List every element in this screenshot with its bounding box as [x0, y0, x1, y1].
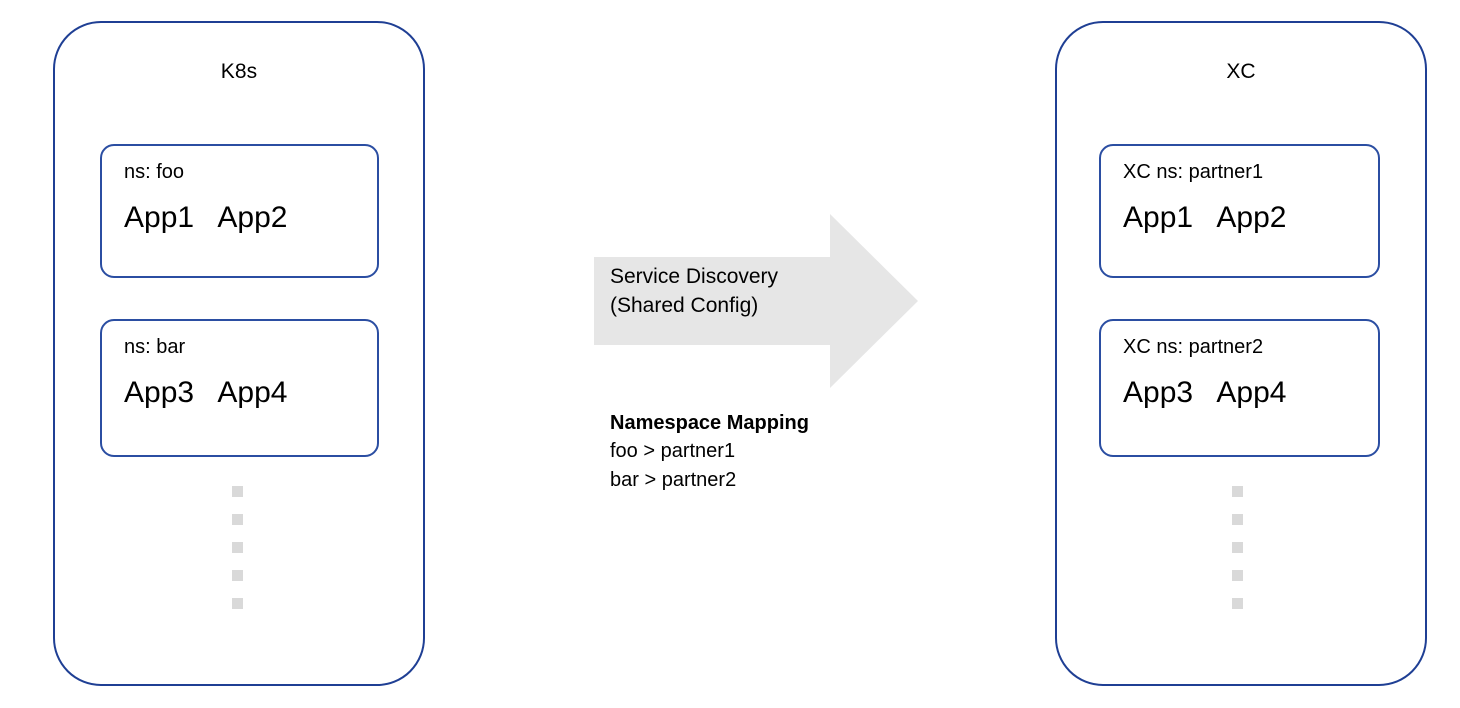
ellipsis-dot: [1232, 542, 1243, 553]
ellipsis-dot: [232, 514, 243, 525]
ellipsis-dot: [232, 486, 243, 497]
namespace-mapping-row-bar: bar > partner2: [610, 466, 910, 495]
namespace-box-partner1: XC ns: partner1 App1 App2: [1099, 144, 1380, 278]
ellipsis-dot: [1232, 570, 1243, 581]
ellipsis-dot: [1232, 514, 1243, 525]
service-discovery-arrow: Service Discovery (Shared Config): [594, 214, 920, 389]
namespace-mapping-title: Namespace Mapping: [610, 409, 910, 437]
namespace-box-partner2: XC ns: partner2 App3 App4: [1099, 319, 1380, 457]
ellipsis-dot: [232, 542, 243, 553]
ellipsis-dot: [232, 570, 243, 581]
service-discovery-arrow-label: Service Discovery (Shared Config): [610, 262, 778, 320]
cluster-xc-title: XC: [1057, 59, 1425, 84]
namespace-box-bar-label: ns: bar: [124, 335, 185, 359]
ellipsis-dot: [232, 598, 243, 609]
namespace-box-foo-apps: App1 App2: [124, 200, 287, 236]
k8s-ellipsis-dots: [232, 486, 243, 609]
namespace-box-partner2-apps: App3 App4: [1123, 375, 1286, 411]
namespace-box-foo: ns: foo App1 App2: [100, 144, 379, 278]
namespace-mapping-row-foo: foo > partner1: [610, 437, 910, 466]
namespace-box-bar: ns: bar App3 App4: [100, 319, 379, 457]
namespace-box-partner1-label: XC ns: partner1: [1123, 160, 1263, 184]
ellipsis-dot: [1232, 598, 1243, 609]
namespace-box-bar-apps: App3 App4: [124, 375, 287, 411]
namespace-box-partner1-apps: App1 App2: [1123, 200, 1286, 236]
namespace-mapping-legend: Namespace Mapping foo > partner1 bar > p…: [610, 409, 910, 495]
cluster-k8s-title: K8s: [55, 59, 423, 84]
diagram-canvas: K8s ns: foo App1 App2 ns: bar App3 App4 …: [0, 0, 1460, 708]
xc-ellipsis-dots: [1232, 486, 1243, 609]
namespace-box-foo-label: ns: foo: [124, 160, 184, 184]
namespace-box-partner2-label: XC ns: partner2: [1123, 335, 1263, 359]
ellipsis-dot: [1232, 486, 1243, 497]
